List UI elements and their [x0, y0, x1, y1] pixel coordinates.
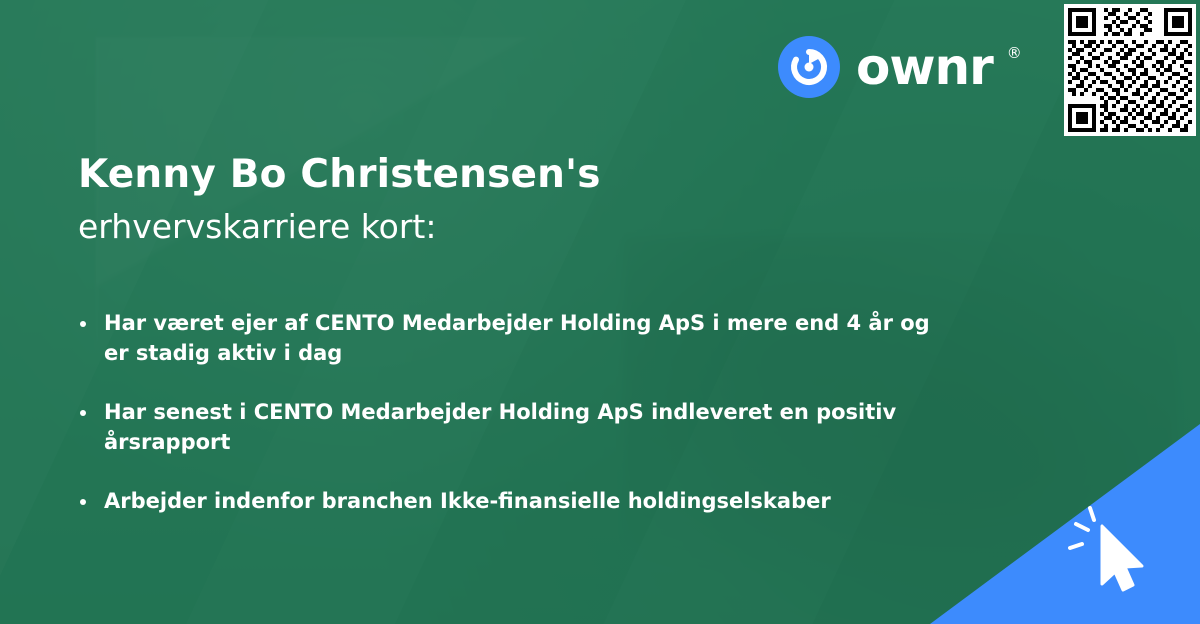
list-item: Har været ejer af CENTO Medarbejder Hold… — [78, 308, 958, 369]
corner-accent — [930, 424, 1200, 624]
qr-code[interactable] — [1064, 4, 1196, 136]
circular-arrow-logo-icon — [778, 36, 840, 98]
bullet-dot-icon — [80, 410, 86, 416]
bullet-dot-icon — [80, 499, 86, 505]
list-item-text: Har senest i CENTO Medarbejder Holding A… — [104, 400, 896, 454]
registered-mark: ® — [1007, 44, 1022, 62]
list-item-text: Har været ejer af CENTO Medarbejder Hold… — [104, 311, 930, 365]
page-title: Kenny Bo Christensen's erhvervskarriere … — [78, 152, 918, 249]
brand-lockup: ownr ® — [778, 36, 1022, 98]
brand-name: ownr — [856, 42, 993, 92]
list-item: Arbejder indenfor branchen Ikke-finansie… — [78, 486, 958, 516]
headline-line-1: Kenny Bo Christensen's — [78, 152, 918, 198]
mouse-cursor-click-icon — [1068, 506, 1160, 602]
list-item: Har senest i CENTO Medarbejder Holding A… — [78, 397, 958, 458]
headline-line-2: erhvervskarriere kort: — [78, 206, 918, 249]
card-content: ownr ® — [0, 0, 1200, 624]
list-item-text: Arbejder indenfor branchen Ikke-finansie… — [104, 489, 831, 513]
bullet-list: Har været ejer af CENTO Medarbejder Hold… — [78, 308, 958, 544]
promo-card: ownr ® — [0, 0, 1200, 624]
bullet-dot-icon — [80, 321, 86, 327]
